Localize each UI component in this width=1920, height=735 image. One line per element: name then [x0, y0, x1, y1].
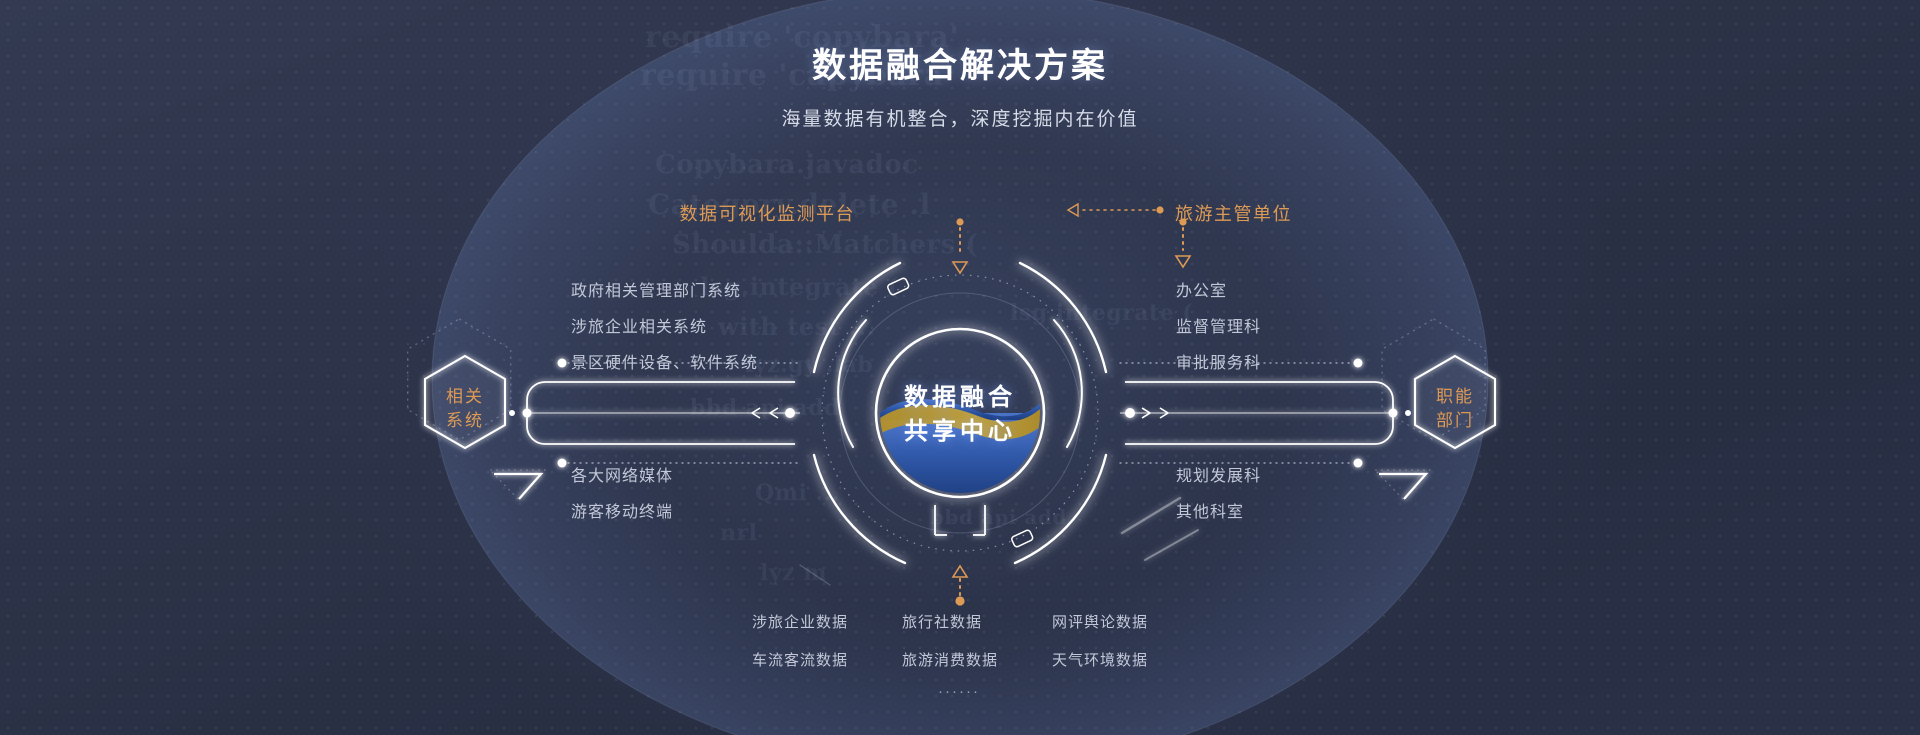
center-line-2: 共享中心 — [830, 415, 1090, 449]
left-feed-dot-top — [558, 359, 567, 368]
right-flow-dot — [1125, 408, 1135, 418]
bottom-label-c1-r1: 涉旅企业数据 — [752, 611, 848, 632]
right-label-upper-0: 办公室 — [1176, 277, 1227, 301]
left-label-upper-1: 涉旅企业相关系统 — [571, 313, 707, 337]
node-tourism-authority[interactable]: 旅游主管单位 — [1175, 200, 1292, 226]
node-visualization-platform[interactable]: 数据可视化监测平台 — [680, 200, 856, 226]
left-label-upper-0: 政府相关管理部门系统 — [571, 277, 741, 301]
right-label-lower-0: 规划发展科 — [1176, 462, 1261, 486]
right-label-upper-1: 监督管理科 — [1176, 313, 1261, 337]
left-label-lower-0: 各大网络媒体 — [571, 462, 673, 486]
bottom-label-c3-r1: 网评舆论数据 — [1052, 611, 1148, 632]
hexagon-right-line1: 职能 — [1395, 385, 1515, 409]
hexagon-left-label: 相关 系统 — [405, 385, 525, 433]
page-background: require 'copybara' require 'capybara' Co… — [0, 0, 1920, 735]
left-label-lower-1: 游客移动终端 — [571, 498, 673, 522]
bottom-ellipsis: ······ — [938, 683, 980, 700]
left-flow-dot — [785, 408, 795, 418]
center-line-1: 数据融合 — [830, 381, 1090, 415]
left-label-upper-2: 景区硬件设备、软件系统 — [571, 349, 758, 373]
hexagon-left-line1: 相关 — [405, 385, 525, 409]
right-feed-dot-bottom — [1354, 459, 1363, 468]
hexagon-right-label: 职能 部门 — [1395, 385, 1515, 433]
right-label-lower-1: 其他科室 — [1176, 498, 1244, 522]
page-header: 数据融合解决方案 海量数据有机整合，深度挖掘内在价值 — [0, 0, 1920, 131]
bottom-label-c2-r2: 旅游消费数据 — [902, 649, 998, 670]
bottom-label-c1-r2: 车流客流数据 — [752, 649, 848, 670]
bottom-label-c3-r2: 天气环境数据 — [1052, 649, 1148, 670]
page-subtitle: 海量数据有机整合，深度挖掘内在价值 — [0, 104, 1920, 131]
right-label-upper-2: 审批服务科 — [1176, 349, 1261, 373]
right-feed-dot-top — [1354, 359, 1363, 368]
page-title: 数据融合解决方案 — [0, 38, 1920, 87]
hexagon-right-line2: 部门 — [1395, 409, 1515, 433]
left-feed-dot-bottom — [558, 459, 567, 468]
center-core-label: 数据融合 共享中心 — [830, 381, 1090, 449]
bottom-label-c2-r1: 旅行社数据 — [902, 611, 982, 632]
hexagon-left-line2: 系统 — [405, 409, 525, 433]
